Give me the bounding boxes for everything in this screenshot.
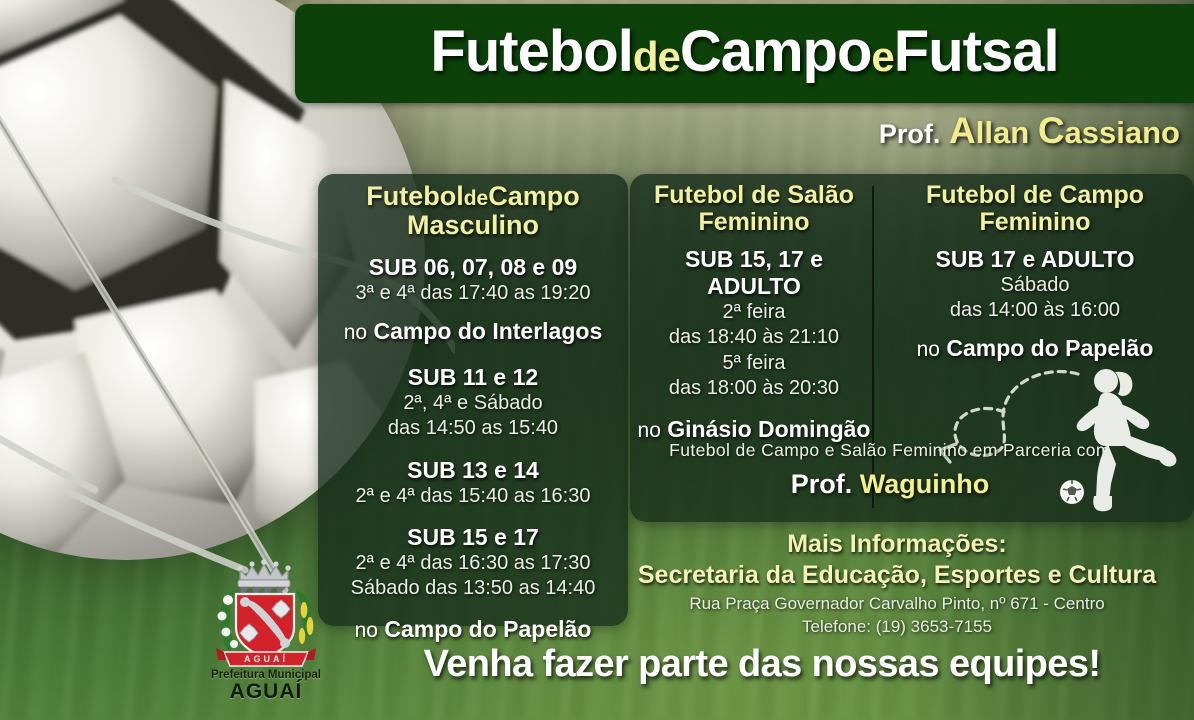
heading-word1: Futebol	[926, 181, 1016, 209]
logo-line2: AGUAÍ	[200, 680, 332, 704]
group-place: no Campo do Interlagos	[318, 318, 628, 346]
group-schedule-line: Sábado	[876, 273, 1194, 298]
poster-root: FuteboldeCampoeFutsal Prof. Allan Cassia…	[0, 0, 1194, 720]
column-campo-masculino: FuteboldeCampo Masculino SUB 06, 07, 08 …	[318, 182, 628, 644]
municipal-logo: AGUAÍ Prefeitura Municipal AGUAÍ	[200, 556, 332, 716]
group-schedule-line: 5ª feira	[636, 351, 872, 376]
crown-icon	[237, 559, 290, 597]
place-name: Campo do Papelão	[946, 335, 1153, 361]
heading-word3: Campo	[488, 181, 580, 211]
heading-word2: de	[464, 187, 489, 210]
place-name: Campo do Interlagos	[374, 318, 603, 344]
professor-credit: Prof. Allan Cassiano	[879, 110, 1180, 152]
heading-word3: Salão	[787, 181, 854, 209]
place-prefix: no	[344, 321, 367, 344]
group-sub-label: SUB 13 e 14	[318, 457, 628, 484]
heading-word2: de	[751, 181, 780, 209]
info-address: Rua Praça Governador Carvalho Pinto, nº …	[600, 594, 1194, 614]
group-schedule-line: 2ª, 4ª e Sábado	[318, 391, 628, 416]
title-part5: Futsal	[894, 19, 1059, 84]
group-schedule-line: Sábado das 13:50 as 14:40	[318, 576, 628, 601]
place-prefix: no	[355, 619, 378, 642]
group-schedule-line: das 18:00 às 20:30	[636, 376, 872, 401]
group-schedule-line: 2ª feira	[636, 300, 872, 325]
column-heading: Futebol de Salão Feminino	[636, 182, 872, 235]
poster-title: FuteboldeCampoeFutsal	[430, 23, 1058, 85]
heading-word2: de	[1023, 181, 1052, 209]
place-name: Campo do Papelão	[384, 616, 591, 642]
info-phone[interactable]: Telefone: (19) 3653-7155	[600, 617, 1194, 637]
aguai-coat-of-arms-icon: AGUAÍ	[206, 556, 326, 668]
tagline: Venha fazer parte das nossas equipes!	[330, 643, 1194, 686]
group-schedule-line: 2ª e 4ª das 16:30 as 17:30	[318, 551, 628, 576]
heading-word1: Futebol	[654, 181, 744, 209]
heading-word1: Futebol	[366, 181, 463, 211]
partnership-prof-name: Waguinho	[860, 469, 989, 499]
title-part1: Futebol	[430, 19, 632, 84]
partnership-prof-label: Prof.	[791, 469, 853, 499]
title-part3: Campo	[680, 19, 872, 84]
group-sub-label: SUB 06, 07, 08 e 09	[318, 254, 628, 281]
place-name: Ginásio Domingão	[667, 416, 870, 442]
info-heading: Mais Informações:	[600, 530, 1194, 559]
group-sub-label: SUB 11 e 12	[318, 364, 628, 391]
title-part4: e	[871, 33, 893, 80]
group-sub-label: SUB 17 e ADULTO	[876, 246, 1194, 273]
heading-word3: Campo	[1059, 181, 1144, 209]
group-schedule-line: 3ª e 4ª das 17:40 as 19:20	[318, 281, 628, 306]
heading-line2: Feminino	[698, 208, 809, 236]
contact-info-block: Mais Informações: Secretaria da Educação…	[600, 530, 1194, 637]
running-girl-silhouette-icon	[1058, 358, 1194, 518]
group-sub-label: SUB 15, 17 e ADULTO	[636, 246, 872, 300]
group-schedule-line: das 14:00 às 16:00	[876, 298, 1194, 323]
professor-first-rest: llan	[976, 115, 1029, 150]
title-bar: FuteboldeCampoeFutsal	[295, 4, 1194, 103]
group-schedule-line: 2ª e 4ª das 15:40 as 16:30	[318, 484, 628, 509]
group-schedule-line: das 18:40 às 21:10	[636, 325, 872, 350]
heading-line2: Feminino	[979, 208, 1090, 236]
professor-first-initial: A	[949, 110, 976, 151]
place-prefix: no	[917, 338, 940, 361]
group-sub-label: SUB 15 e 17	[318, 524, 628, 551]
title-part2: de	[633, 33, 680, 80]
info-department: Secretaria da Educação, Esportes e Cultu…	[600, 561, 1194, 590]
small-soccer-ball-icon	[1060, 480, 1084, 504]
column-heading: Futebol de Campo Feminino	[876, 182, 1194, 235]
column-heading: FuteboldeCampo Masculino	[318, 182, 628, 239]
place-prefix: no	[638, 419, 661, 442]
group-schedule-line: das 14:50 as 15:40	[318, 416, 628, 441]
professor-last-initial: C	[1038, 110, 1065, 151]
column-campo-feminino: Futebol de Campo Feminino SUB 17 e ADULT…	[876, 182, 1194, 362]
professor-last-rest: assiano	[1065, 115, 1180, 150]
banner-text: AGUAÍ	[244, 654, 288, 664]
professor-label: Prof.	[879, 119, 941, 149]
group-place: no Campo do Papelão	[318, 616, 628, 644]
heading-line2: Masculino	[407, 210, 539, 240]
column-salao-feminino: Futebol de Salão Feminino SUB 15, 17 e A…	[636, 182, 872, 444]
